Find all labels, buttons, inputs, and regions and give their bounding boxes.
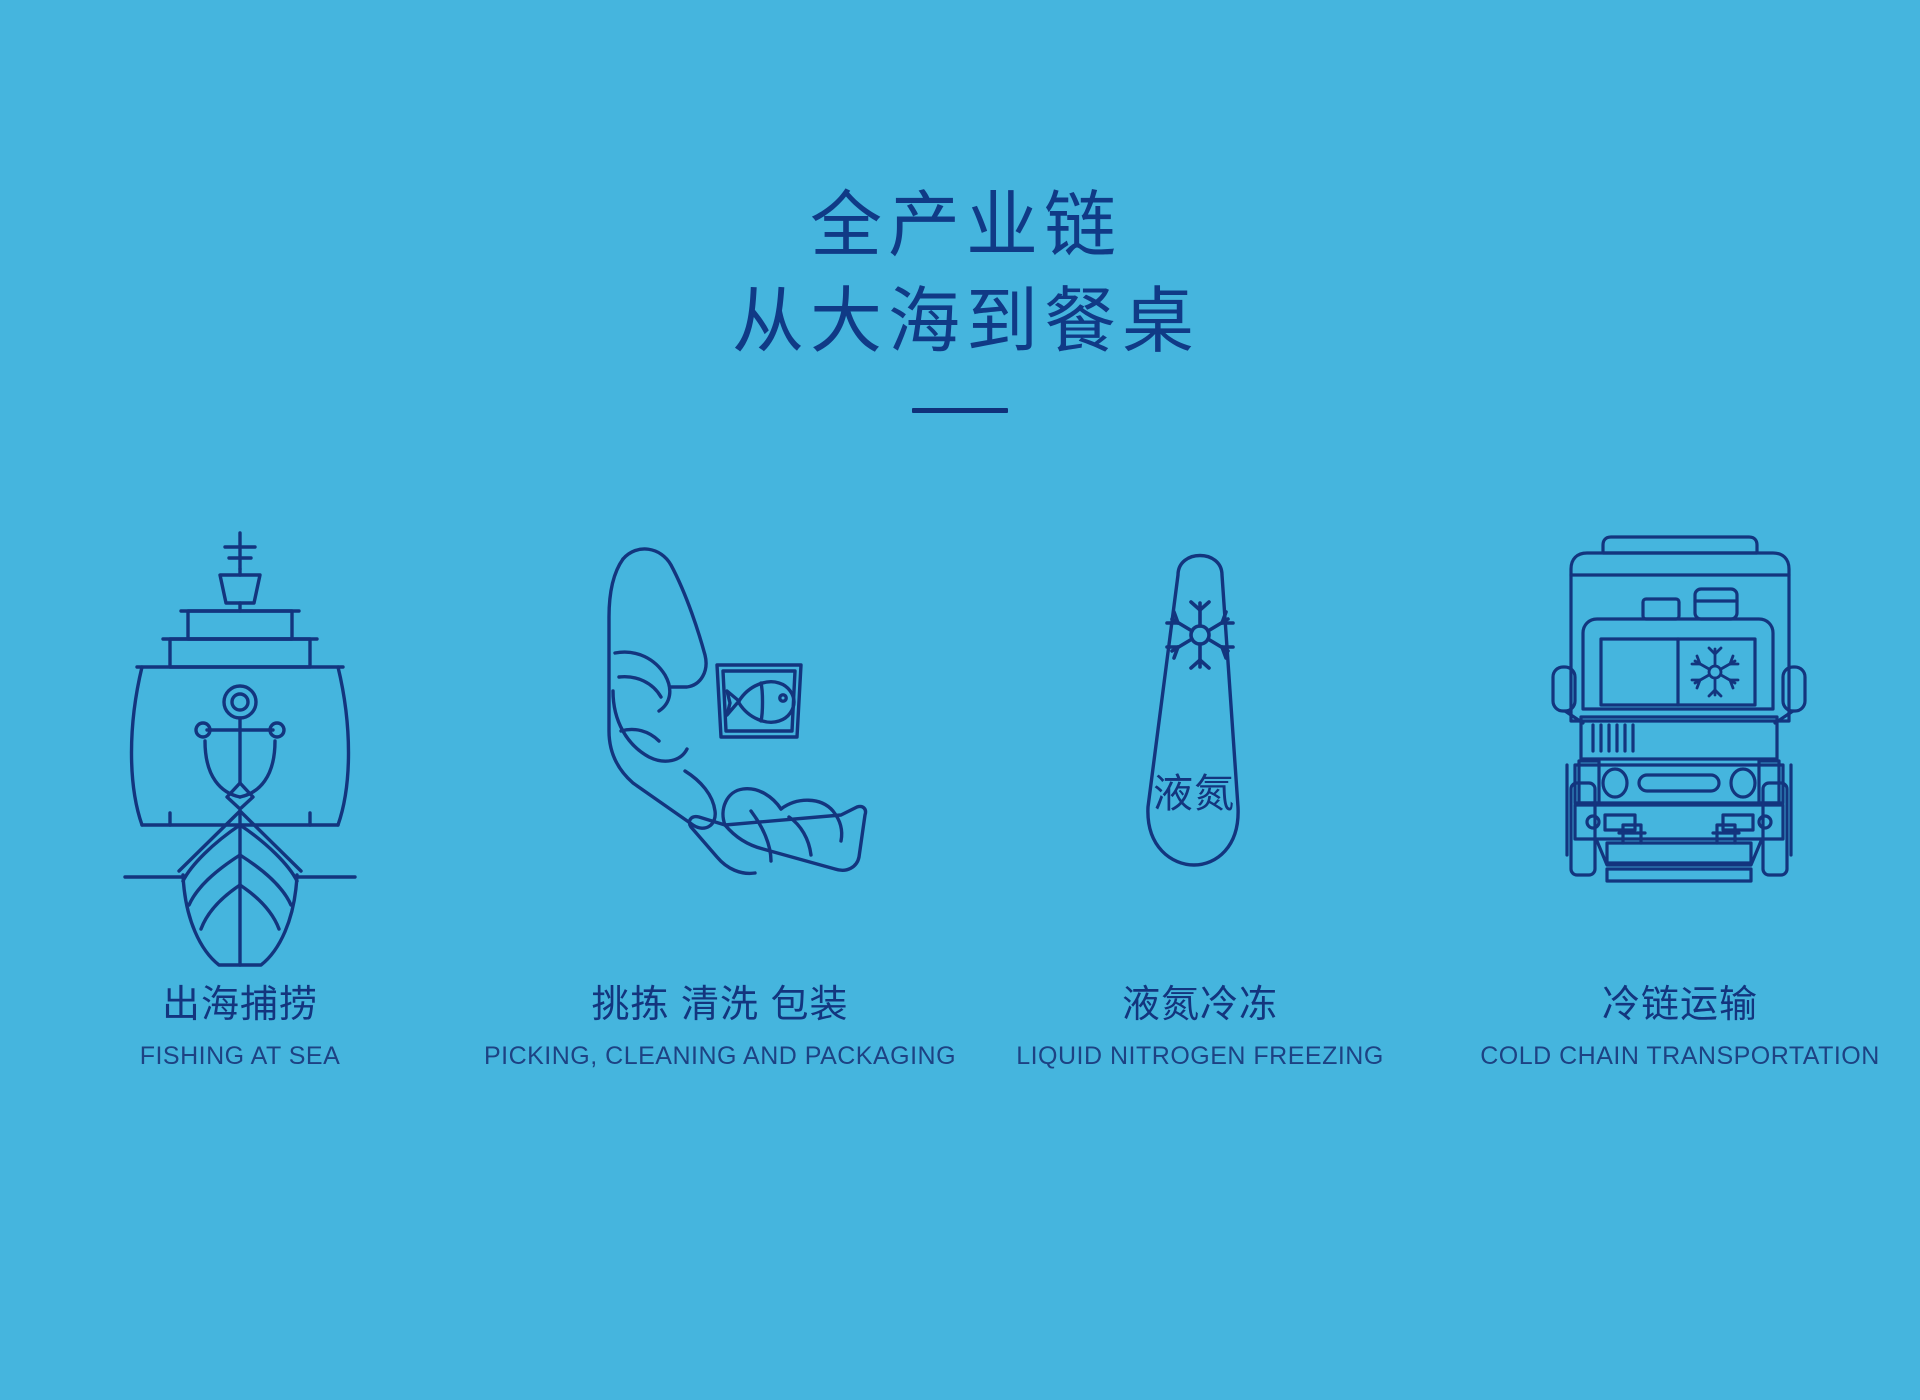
step-cold-chain-transportation[interactable]: 冷链运输 COLD CHAIN TRANSPORTATION [1440, 520, 1920, 1069]
icon-box-2 [575, 520, 865, 880]
step-label-cn-1: 出海捕捞 [162, 986, 318, 1024]
step-label-en-4: COLD CHAIN TRANSPORTATION [1480, 1044, 1880, 1069]
process-steps-row: 出海捕捞 FISHING AT SEA [0, 520, 1920, 1069]
page-title-line-2: 从大海到餐桌 [12, 274, 1920, 370]
hands-fish-package-icon [575, 525, 865, 875]
step-label-en-3: LIQUID NITROGEN FREEZING [1016, 1044, 1384, 1069]
icon-box-1 [115, 520, 365, 880]
step-label-en-1: FISHING AT SEA [140, 1044, 341, 1069]
step-label-cn-2: 挑拣 清洗 包装 [591, 986, 848, 1024]
step-label-cn-3: 液氮冷冻 [1122, 986, 1278, 1024]
step-label-en-2: PICKING, CLEANING AND PACKAGING [484, 1044, 956, 1069]
icon-box-3: 液氮 [1120, 520, 1280, 880]
nitrogen-tank-snowflake-icon: 液氮 [1120, 525, 1280, 875]
page-root: 全产业链 从大海到餐桌 [0, 0, 1920, 1400]
snowflake-glyph-truck [1692, 648, 1738, 696]
step-label-cn-4: 冷链运输 [1602, 986, 1758, 1024]
icon-box-4 [1545, 520, 1815, 880]
fishing-boat-anchor-icon [115, 525, 365, 875]
step-liquid-nitrogen-freezing[interactable]: 液氮 液氮冷冻 LIQUID NITROGEN FREEZING [960, 520, 1440, 1069]
step-fishing-at-sea[interactable]: 出海捕捞 FISHING AT SEA [0, 520, 480, 1069]
page-header: 全产业链 从大海到餐桌 [0, 178, 1920, 413]
page-title-line-1: 全产业链 [12, 178, 1920, 274]
tank-label: 液氮 [1153, 772, 1235, 816]
title-divider [912, 408, 1008, 413]
step-picking-cleaning-packaging[interactable]: 挑拣 清洗 包装 PICKING, CLEANING AND PACKAGING [480, 520, 960, 1069]
refrigerated-truck-icon [1545, 525, 1815, 875]
